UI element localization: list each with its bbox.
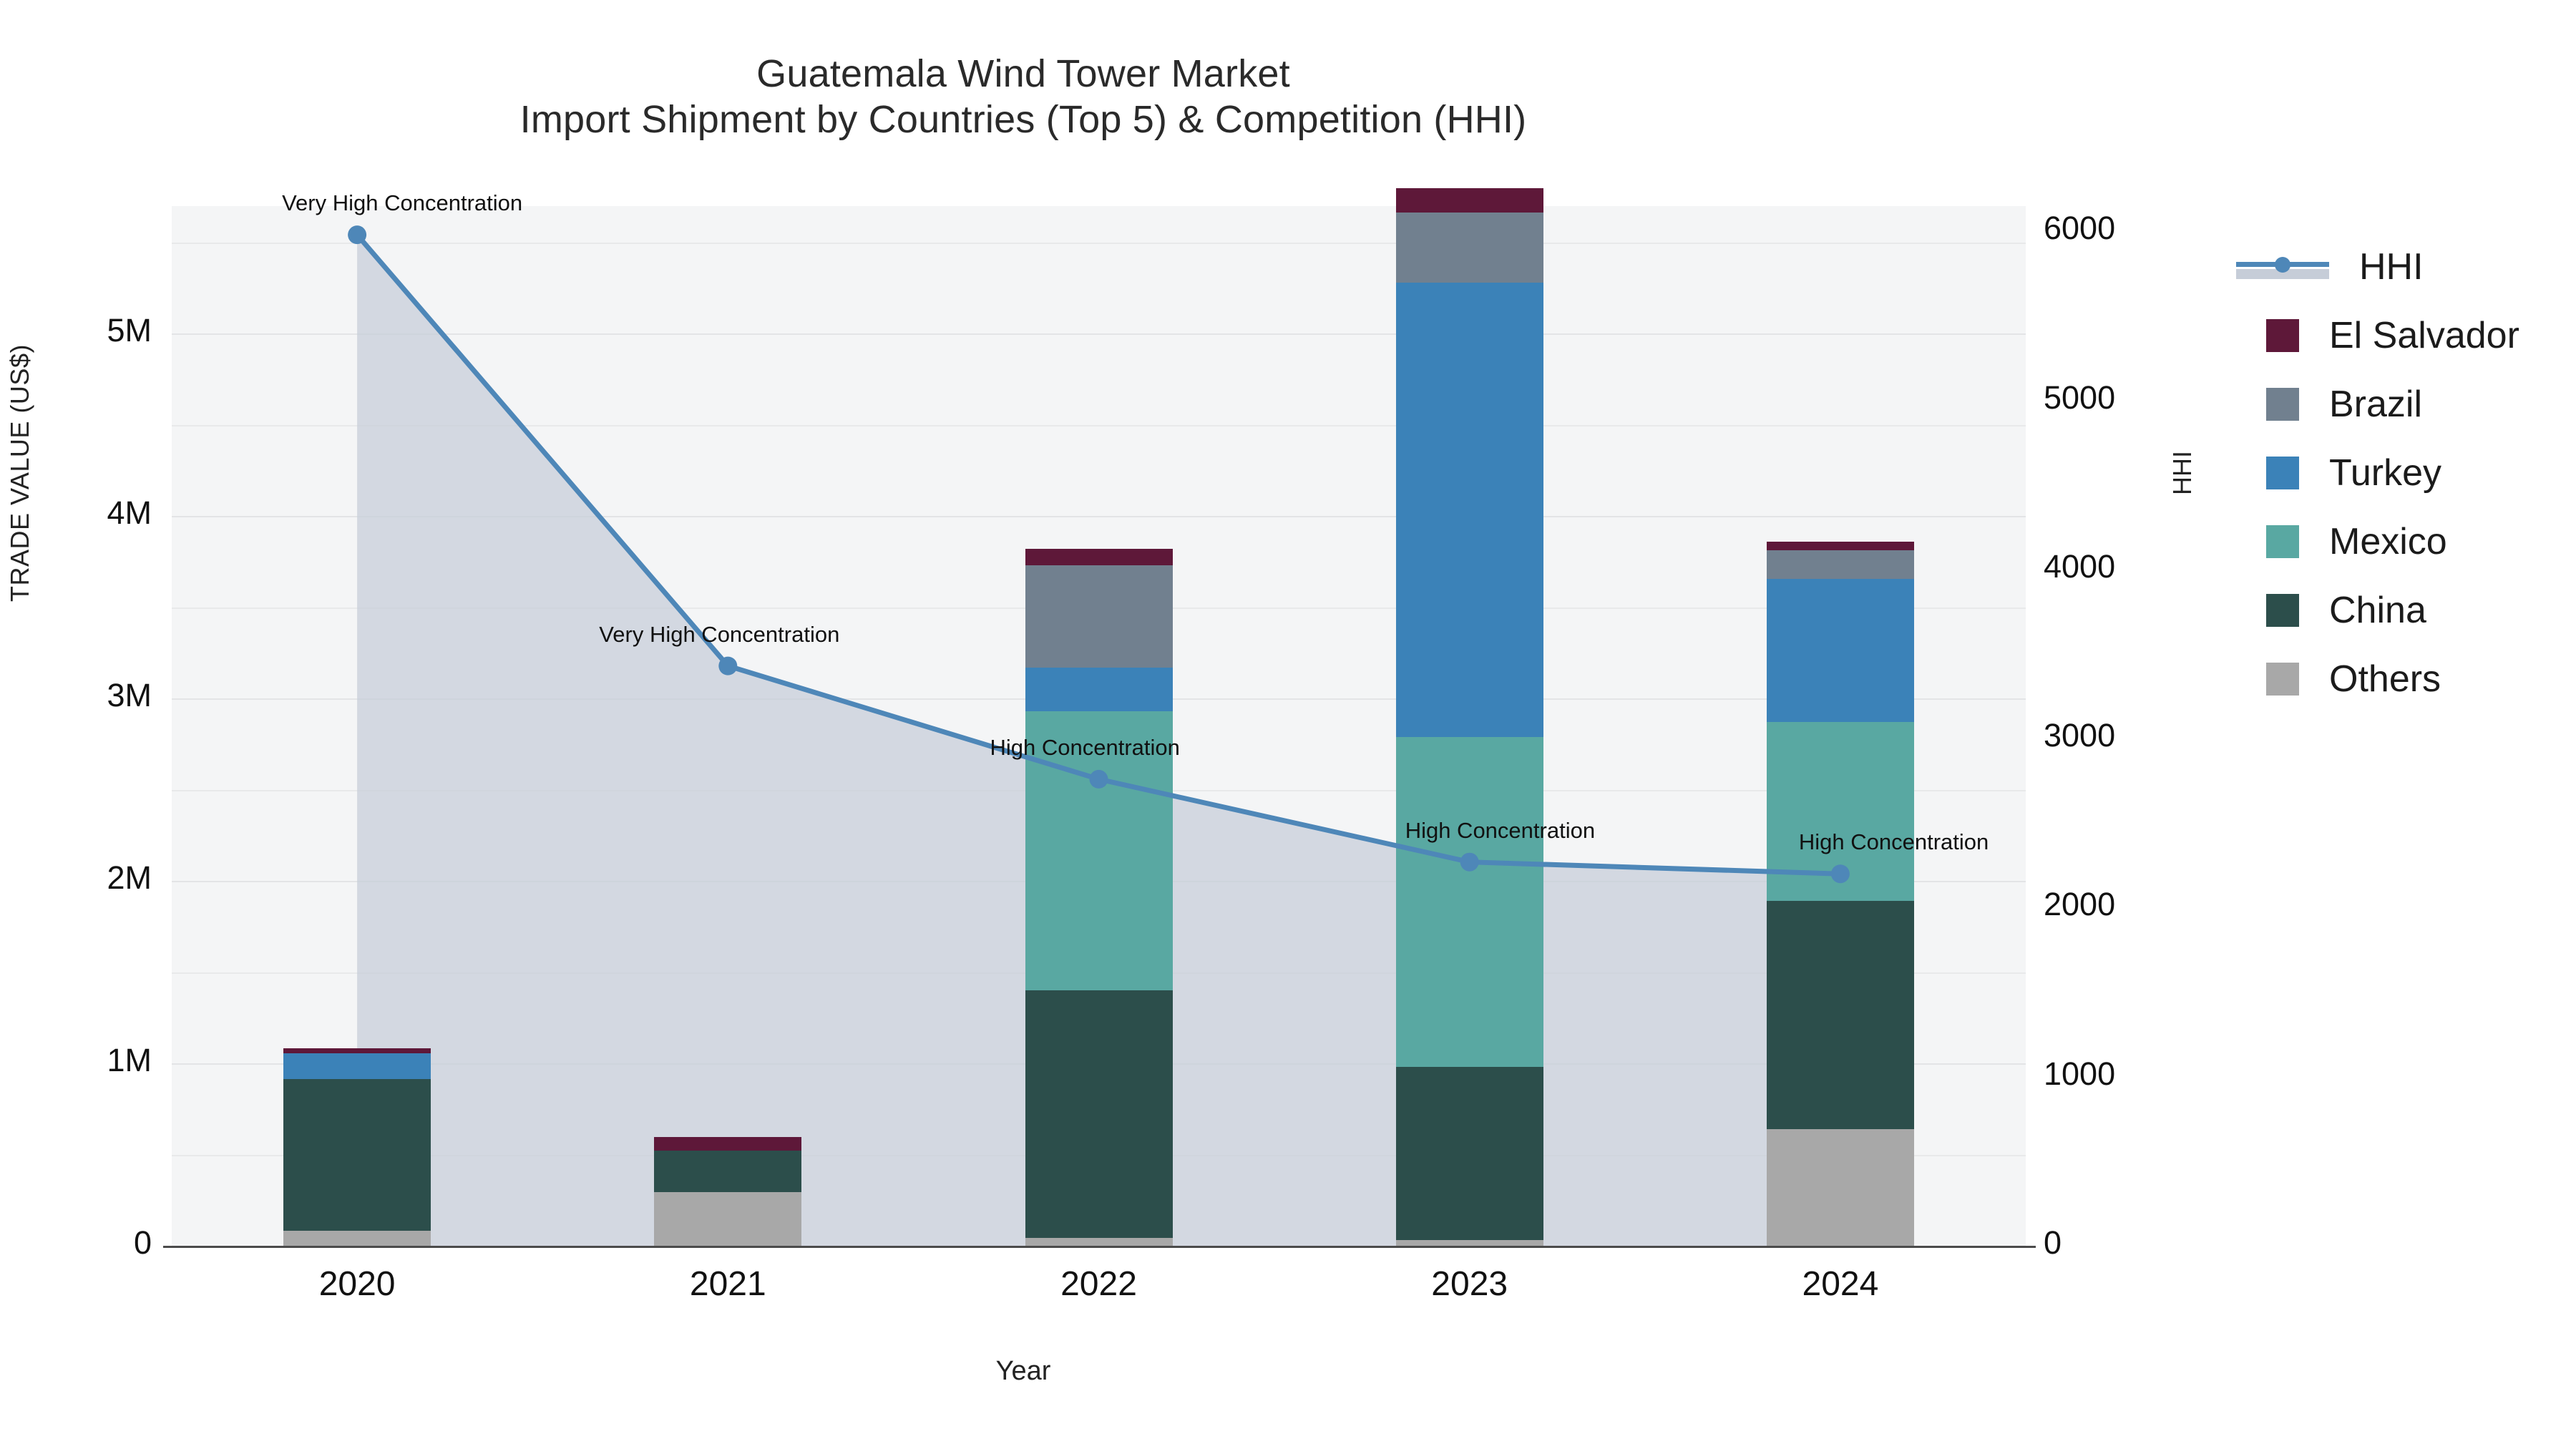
title-line-2: Import Shipment by Countries (Top 5) & C…: [0, 97, 2046, 143]
bar-series-container: [172, 206, 2026, 1246]
bar-segment-turkey[interactable]: [1767, 579, 1914, 722]
bar-2023[interactable]: [1396, 206, 1543, 1246]
y-tick-left-2M: 2M: [0, 859, 152, 897]
legend-swatch-icon: [2266, 525, 2299, 558]
title-line-1: Guatemala Wind Tower Market: [0, 52, 2046, 97]
bar-segment-china[interactable]: [283, 1079, 431, 1231]
bar-segment-el-salvador[interactable]: [1396, 188, 1543, 213]
legend-label: Brazil: [2329, 383, 2422, 426]
y-tick-right-1000: 1000: [2044, 1055, 2115, 1093]
x-tick-2023: 2023: [1362, 1264, 1577, 1304]
bar-segment-brazil[interactable]: [1767, 550, 1914, 580]
x-axis-label: Year: [0, 1356, 2046, 1387]
legend-swatch-icon: [2266, 594, 2299, 627]
chart-root: Guatemala Wind Tower Market Import Shipm…: [0, 0, 2576, 1449]
bar-segment-turkey[interactable]: [283, 1053, 431, 1079]
annotation-2024: High Concentration: [1799, 829, 1989, 855]
annotation-2022: High Concentration: [990, 735, 1180, 761]
bar-segment-mexico[interactable]: [1767, 722, 1914, 901]
x-tick-2021: 2021: [620, 1264, 835, 1304]
bar-segment-mexico[interactable]: [1396, 737, 1543, 1067]
legend: HHIEl SalvadorBrazilTurkeyMexicoChinaOth…: [2236, 233, 2519, 713]
bar-segment-turkey[interactable]: [1025, 668, 1173, 711]
bar-segment-china[interactable]: [1025, 990, 1173, 1237]
legend-swatch-icon: [2266, 388, 2299, 421]
bar-2022[interactable]: [1025, 206, 1173, 1246]
legend-label: Turkey: [2329, 452, 2441, 494]
bar-segment-others[interactable]: [654, 1192, 801, 1246]
bar-segment-others[interactable]: [1396, 1240, 1543, 1246]
legend-item-hhi[interactable]: HHI: [2236, 233, 2519, 301]
y-axis-left-label: TRADE VALUE (US$): [5, 287, 35, 659]
bar-2020[interactable]: [283, 206, 431, 1246]
legend-label: Mexico: [2329, 520, 2447, 563]
bar-2024[interactable]: [1767, 206, 1914, 1246]
chart-title: Guatemala Wind Tower Market Import Shipm…: [0, 52, 2046, 142]
y-axis-right-label: HHI: [2167, 308, 2197, 638]
y-tick-right-0: 0: [2044, 1224, 2062, 1262]
legend-label: Others: [2329, 658, 2441, 701]
legend-swatch-icon: [2266, 319, 2299, 352]
legend-label: China: [2329, 589, 2426, 632]
bar-segment-el-salvador[interactable]: [1767, 542, 1914, 550]
legend-item-brazil[interactable]: Brazil: [2236, 370, 2519, 439]
y-tick-left-0: 0: [0, 1224, 152, 1262]
bar-segment-brazil[interactable]: [1025, 565, 1173, 668]
bar-segment-china[interactable]: [654, 1151, 801, 1191]
y-tick-right-2000: 2000: [2044, 886, 2115, 923]
bar-2021[interactable]: [654, 206, 801, 1246]
plot-area: Very High ConcentrationVery High Concent…: [172, 206, 2026, 1246]
bar-segment-el-salvador[interactable]: [1025, 549, 1173, 565]
y-axis-tick-0-right: [2026, 1246, 2036, 1248]
legend-swatch-icon: [2266, 457, 2299, 489]
y-tick-right-6000: 6000: [2044, 210, 2115, 247]
y-axis-tick-0-left: [163, 1246, 173, 1248]
bar-segment-brazil[interactable]: [1396, 213, 1543, 283]
y-tick-right-4000: 4000: [2044, 548, 2115, 585]
legend-label: HHI: [2359, 245, 2424, 288]
annotation-2021: Very High Concentration: [599, 622, 839, 648]
bar-segment-el-salvador[interactable]: [283, 1048, 431, 1054]
bar-segment-el-salvador[interactable]: [654, 1137, 801, 1151]
y-tick-left-1M: 1M: [0, 1042, 152, 1079]
y-tick-right-5000: 5000: [2044, 379, 2115, 416]
x-tick-2022: 2022: [992, 1264, 1206, 1304]
x-tick-2020: 2020: [250, 1264, 464, 1304]
x-tick-2024: 2024: [1733, 1264, 1948, 1304]
annotation-2020: Very High Concentration: [282, 190, 522, 216]
legend-item-turkey[interactable]: Turkey: [2236, 439, 2519, 507]
bar-segment-others[interactable]: [283, 1231, 431, 1246]
y-tick-left-3M: 3M: [0, 677, 152, 714]
legend-item-mexico[interactable]: Mexico: [2236, 507, 2519, 576]
legend-label: El Salvador: [2329, 314, 2519, 357]
legend-item-china[interactable]: China: [2236, 576, 2519, 645]
bar-segment-china[interactable]: [1767, 901, 1914, 1129]
bar-segment-others[interactable]: [1767, 1129, 1914, 1246]
y-tick-right-3000: 3000: [2044, 717, 2115, 754]
annotation-2023: High Concentration: [1405, 818, 1595, 844]
legend-item-others[interactable]: Others: [2236, 645, 2519, 713]
bar-segment-turkey[interactable]: [1396, 283, 1543, 737]
legend-swatch-icon: [2266, 663, 2299, 696]
bar-segment-others[interactable]: [1025, 1238, 1173, 1246]
legend-line-key-icon: [2236, 250, 2329, 283]
legend-item-el-salvador[interactable]: El Salvador: [2236, 301, 2519, 370]
x-axis-line: [172, 1246, 2026, 1248]
bar-segment-china[interactable]: [1396, 1067, 1543, 1240]
